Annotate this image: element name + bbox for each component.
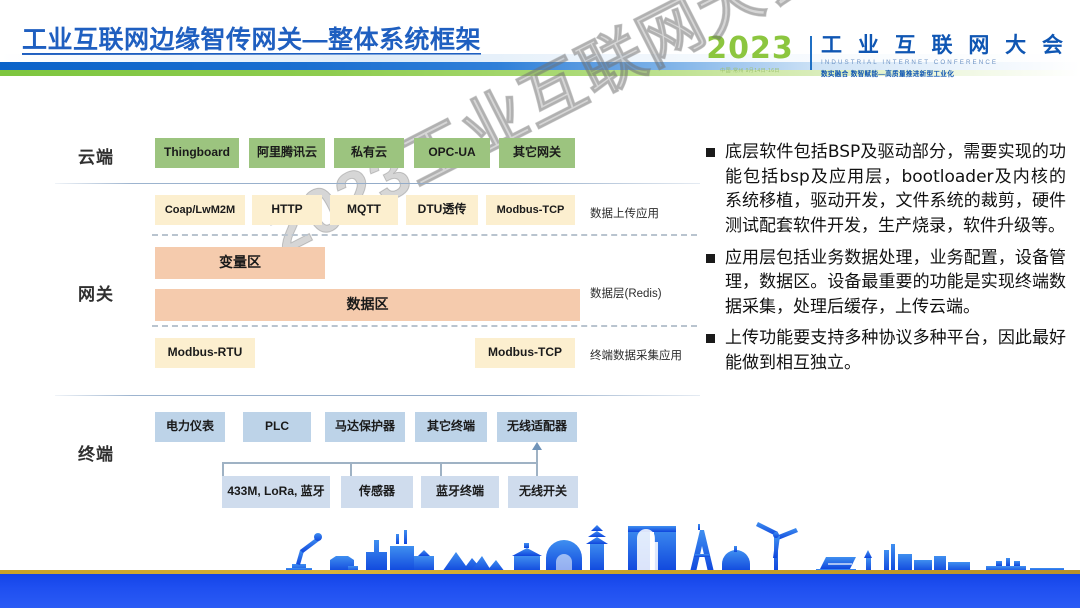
architecture-diagram: 云端 网关 终端 Thingboard 阿里腾讯云 私有云 OPC-UA 其它网… xyxy=(0,95,700,515)
memory-box-variable[interactable]: 变量区 xyxy=(155,247,325,279)
side-label-acquisition: 终端数据采集应用 xyxy=(590,347,682,363)
acq-box-modbus-rtu[interactable]: Modbus-RTU xyxy=(155,338,255,368)
bullet-item-3: 上传功能要支持多种协议多种平台，因此最好能做到相互独立。 xyxy=(706,326,1066,375)
memory-box-data[interactable]: 数据区 xyxy=(155,289,580,321)
terminal-box-wireless-switch[interactable]: 无线开关 xyxy=(508,476,578,508)
logo-name-en: INDUSTRIAL INTERNET CONFERENCE xyxy=(821,59,1068,66)
terminal-box-plc[interactable]: PLC xyxy=(243,412,311,442)
slide-footer xyxy=(0,523,1080,608)
terminal-connector-drop-4 xyxy=(536,462,538,476)
protocol-box-dtu[interactable]: DTU透传 xyxy=(406,195,478,225)
bullet-item-1: 底层软件包括BSP及驱动部分，需要实现的功能包括bsp及应用层，bootload… xyxy=(706,140,1066,239)
terminal-box-bluetooth[interactable]: 蓝牙终端 xyxy=(421,476,499,508)
slide-header: 工业互联网边缘智传网关—整体系统框架 2023 中国·常州 9月14日-16日 … xyxy=(0,0,1080,80)
side-label-data-layer: 数据层(Redis) xyxy=(590,285,662,301)
footer-water-band xyxy=(0,574,1080,608)
logo-year: 2023 xyxy=(694,34,806,64)
terminal-connector-drop-2 xyxy=(350,462,352,476)
protocol-box-coap[interactable]: Coap/LwM2M xyxy=(155,195,245,225)
terminal-connector-drop-3 xyxy=(440,462,442,476)
bullet-text-1: 底层软件包括BSP及驱动部分，需要实现的功能包括bsp及应用层，bootload… xyxy=(725,140,1066,239)
bullet-text-2: 应用层包括业务数据处理，业务配置，设备管理，数据区。设备最重要的功能是实现终端数… xyxy=(725,246,1066,320)
protocol-box-http[interactable]: HTTP xyxy=(252,195,322,225)
logo-year-block: 2023 中国·常州 9月14日-16日 xyxy=(694,34,806,74)
cloud-box-private[interactable]: 私有云 xyxy=(334,138,404,168)
separator-gateway-terminal xyxy=(55,395,700,396)
terminal-connector-drop-1 xyxy=(222,462,224,476)
bullet-item-2: 应用层包括业务数据处理，业务配置，设备管理，数据区。设备最重要的功能是实现终端数… xyxy=(706,246,1066,320)
logo-divider xyxy=(810,36,812,70)
terminal-box-sensor[interactable]: 传感器 xyxy=(341,476,413,508)
arrow-up-icon xyxy=(532,442,542,450)
page-title: 工业互联网边缘智传网关—整体系统框架 xyxy=(22,20,481,56)
protocol-box-modbus-tcp[interactable]: Modbus-TCP xyxy=(486,195,575,225)
layer-label-cloud: 云端 xyxy=(78,143,114,168)
logo-year-sub: 中国·常州 9月14日-16日 xyxy=(694,67,806,74)
protocol-box-mqtt[interactable]: MQTT xyxy=(330,195,398,225)
terminal-box-other[interactable]: 其它终端 xyxy=(415,412,487,442)
skyline-illustration xyxy=(0,522,1080,572)
bullet-list: 底层软件包括BSP及驱动部分，需要实现的功能包括bsp及应用层，bootload… xyxy=(706,140,1066,383)
cloud-box-other[interactable]: 其它网关 xyxy=(499,138,575,168)
bullet-marker-icon xyxy=(706,254,715,263)
cloud-box-thingboard[interactable]: Thingboard xyxy=(155,138,239,168)
logo-name-cn: 工 业 互 联 网 大 会 xyxy=(821,34,1068,57)
acq-box-modbus-tcp[interactable]: Modbus-TCP xyxy=(475,338,575,368)
bullet-marker-icon xyxy=(706,148,715,157)
logo-text-block: 工 业 互 联 网 大 会 INDUSTRIAL INTERNET CONFER… xyxy=(821,34,1068,78)
separator-data-acq xyxy=(152,325,697,327)
conference-logo: 2023 中国·常州 9月14日-16日 工 业 互 联 网 大 会 INDUS… xyxy=(694,34,1068,82)
layer-label-terminal: 终端 xyxy=(78,440,114,465)
terminal-box-motor-protector[interactable]: 马达保护器 xyxy=(325,412,405,442)
logo-slogan: 数实融合 数智赋能—高质量推进新型工业化 xyxy=(821,68,1068,78)
cloud-box-alicloud[interactable]: 阿里腾讯云 xyxy=(249,138,325,168)
separator-cloud-gateway xyxy=(55,183,700,184)
separator-app-data xyxy=(152,234,697,236)
terminal-box-radio[interactable]: 433M, LoRa, 蓝牙 xyxy=(222,476,330,508)
cloud-box-opcua[interactable]: OPC-UA xyxy=(414,138,490,168)
layer-label-gateway: 网关 xyxy=(78,280,114,305)
side-label-upload: 数据上传应用 xyxy=(590,205,659,221)
terminal-connector-bus xyxy=(222,462,538,464)
bullet-marker-icon xyxy=(706,334,715,343)
terminal-box-wireless-adapter[interactable]: 无线适配器 xyxy=(497,412,577,442)
bullet-text-3: 上传功能要支持多种协议多种平台，因此最好能做到相互独立。 xyxy=(725,326,1066,375)
terminal-box-power-meter[interactable]: 电力仪表 xyxy=(155,412,225,442)
